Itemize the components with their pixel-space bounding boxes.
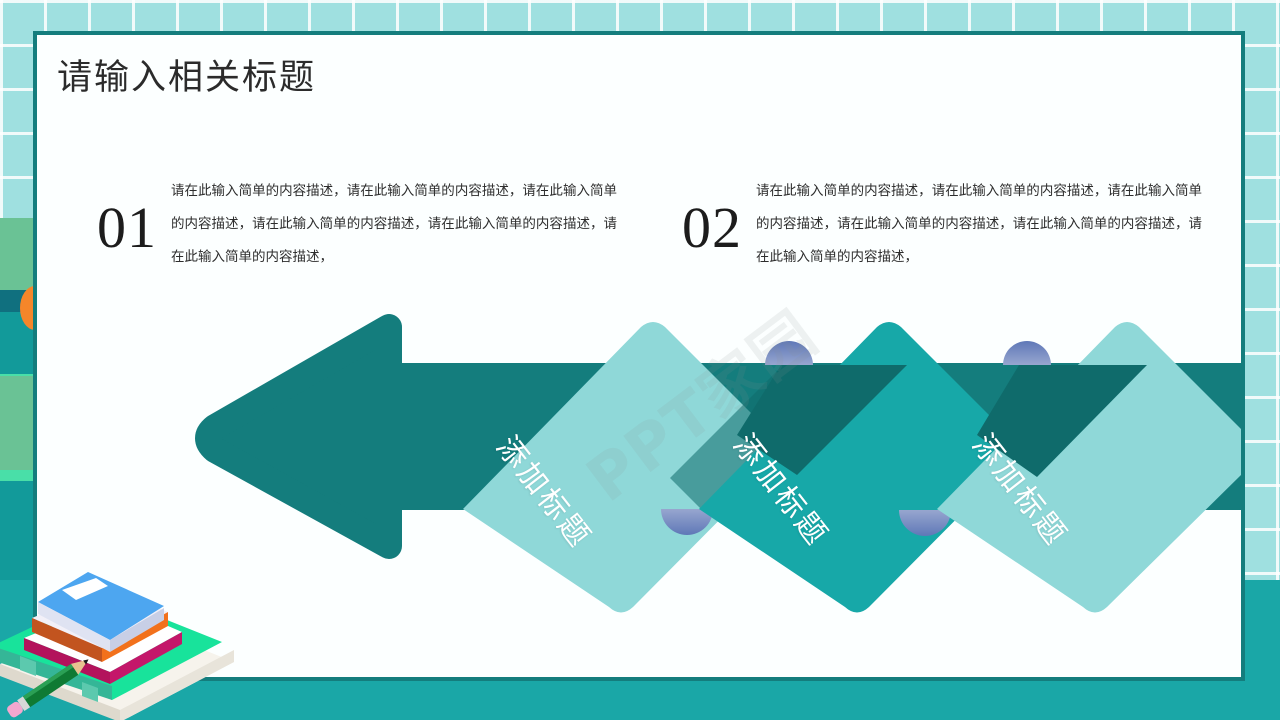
stacked-books-icon — [0, 554, 242, 720]
swatch-mint — [0, 472, 36, 481]
slide-root: 请输入相关标题 01 请在此输入简单的内容描述，请在此输入简单的内容描述，请在此… — [0, 0, 1280, 720]
swatch-green-2 — [0, 374, 36, 472]
swatch-green-1 — [0, 218, 36, 290]
arrow-head-icon — [208, 327, 389, 546]
